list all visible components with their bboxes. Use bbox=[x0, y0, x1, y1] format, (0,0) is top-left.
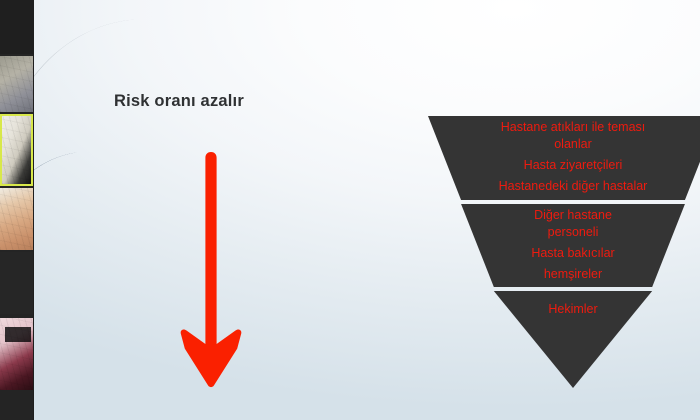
participant-video-1 bbox=[0, 0, 33, 54]
slide-title: Risk oranı azalır bbox=[114, 92, 244, 111]
participant-video-5 bbox=[0, 252, 33, 314]
arrow-down-icon bbox=[180, 148, 242, 390]
participant-thumbnail-1[interactable] bbox=[0, 0, 33, 54]
participant-video-6 bbox=[0, 318, 33, 390]
video-noise-overlay bbox=[0, 318, 33, 390]
funnel-segment-bottom bbox=[428, 291, 700, 388]
funnel-segment-middle bbox=[428, 204, 700, 287]
inverted-triangle-funnel: Hastane atıkları ile teması olanlar Hast… bbox=[428, 116, 700, 388]
shared-presentation-slide: Risk oranı azalır Hastane atıkları ile t… bbox=[34, 0, 700, 420]
decorative-swoosh-dark bbox=[34, 152, 96, 288]
participant-thumbnail-5[interactable] bbox=[0, 252, 33, 314]
screen-sharing-view: Risk oranı azalır Hastane atıkları ile t… bbox=[0, 0, 700, 420]
participant-video-3 bbox=[2, 116, 31, 184]
video-noise-overlay bbox=[2, 116, 31, 184]
video-noise-overlay bbox=[0, 188, 33, 250]
participant-video-4 bbox=[0, 188, 33, 250]
participant-thumbnail-4[interactable] bbox=[0, 188, 33, 250]
video-noise-overlay bbox=[0, 56, 33, 112]
participant-thumbnail-3[interactable] bbox=[0, 114, 33, 186]
participant-thumbnail-2[interactable] bbox=[0, 56, 33, 112]
participant-filmstrip[interactable] bbox=[0, 0, 33, 420]
funnel-segment-top bbox=[428, 116, 700, 200]
participant-video-2 bbox=[0, 56, 33, 112]
participant-thumbnail-6[interactable] bbox=[0, 318, 33, 390]
